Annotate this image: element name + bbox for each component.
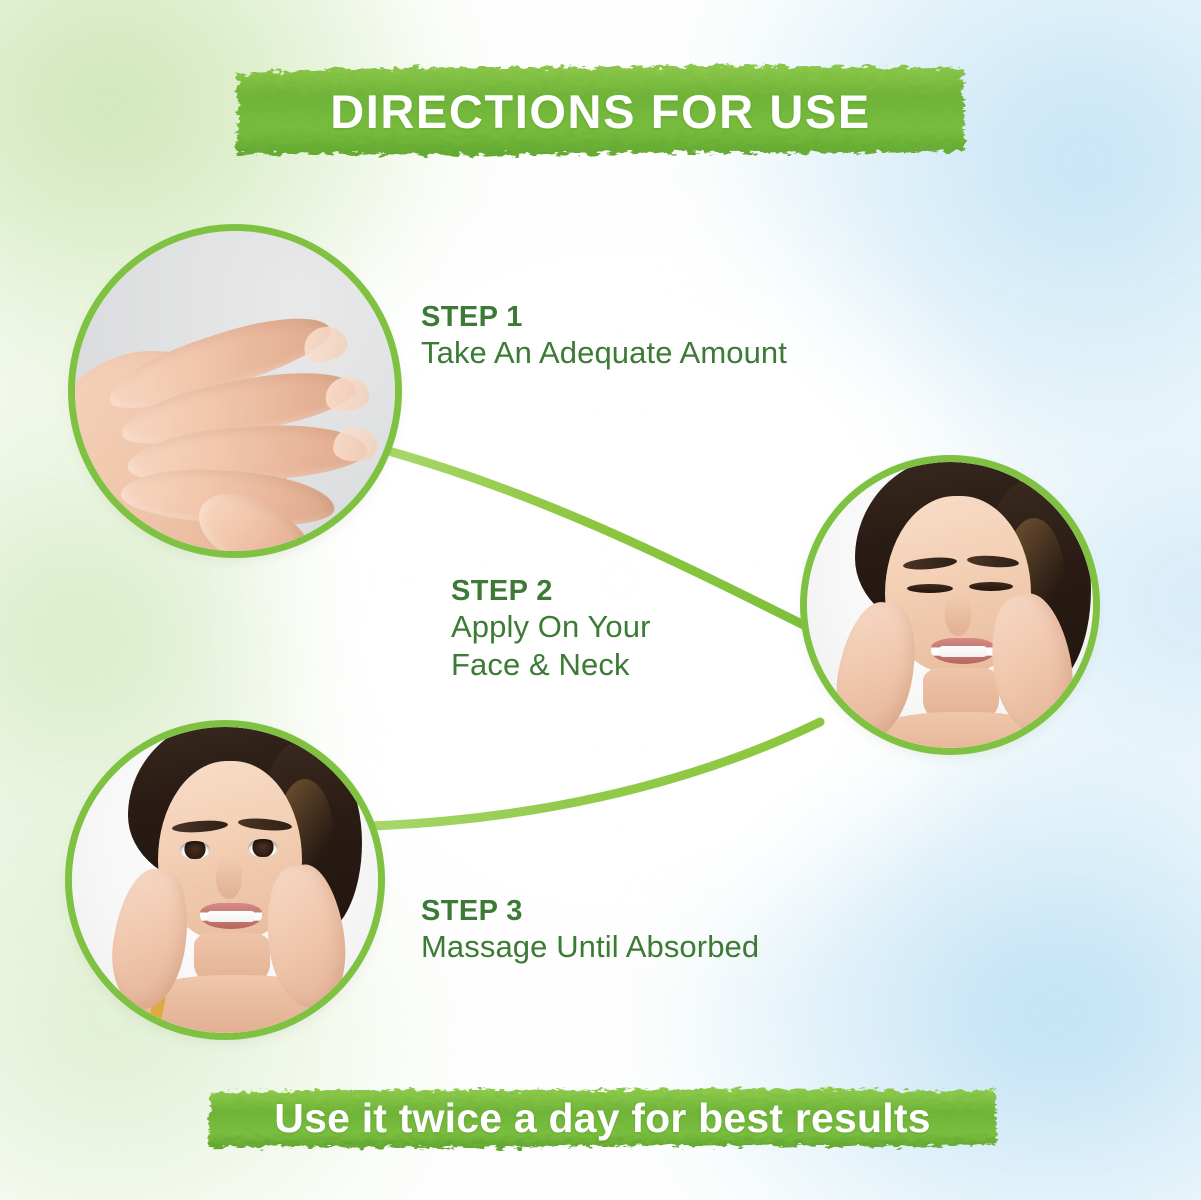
step-2-text: STEP 2 Apply On Your Face & Neck bbox=[451, 574, 651, 684]
step-3-description: Massage Until Absorbed bbox=[421, 928, 759, 966]
open-palm-fingers-photo bbox=[75, 231, 395, 551]
step-1-image bbox=[75, 231, 395, 551]
directions-for-use-infographic: DIRECTIONS FOR USE bbox=[0, 0, 1201, 1200]
step-1-text: STEP 1 Take An Adequate Amount bbox=[421, 300, 787, 372]
step-3-label: STEP 3 bbox=[421, 894, 759, 928]
step-2-image bbox=[807, 462, 1093, 748]
step-2-description-line-2: Face & Neck bbox=[451, 646, 651, 684]
step-1-description: Take An Adequate Amount bbox=[421, 334, 787, 372]
header-banner: DIRECTIONS FOR USE bbox=[232, 58, 969, 162]
step-2-label: STEP 2 bbox=[451, 574, 651, 608]
step-2-description-line-1: Apply On Your bbox=[451, 608, 651, 646]
footer-text: Use it twice a day for best results bbox=[274, 1098, 930, 1139]
woman-massaging-face-photo bbox=[72, 727, 378, 1033]
step-3-image bbox=[72, 727, 378, 1033]
woman-applying-cream-to-face-photo bbox=[807, 462, 1093, 748]
connector-step2-to-step3 bbox=[372, 722, 820, 826]
step-1-label: STEP 1 bbox=[421, 300, 787, 334]
step-3-text: STEP 3 Massage Until Absorbed bbox=[421, 894, 759, 966]
footer-banner: Use it twice a day for best results bbox=[205, 1083, 1000, 1153]
header-title: DIRECTIONS FOR USE bbox=[330, 88, 871, 135]
